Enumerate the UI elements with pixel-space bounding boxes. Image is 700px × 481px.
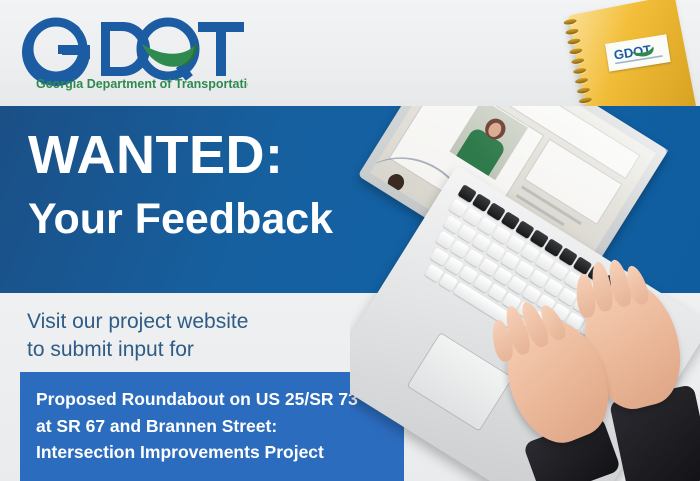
project-line-1: Proposed Roundabout on US 25/SR 73 — [36, 386, 388, 413]
desk-surface — [350, 106, 700, 481]
banner-headline: WANTED: — [28, 128, 283, 182]
gdot-tagline: Georgia Department of Transportation — [36, 77, 248, 91]
banner-subheadline: Your Feedback — [28, 198, 333, 241]
project-line-2: at SR 67 and Brannen Street: — [36, 413, 388, 440]
gdot-logo: Georgia Department of Transportation — [18, 14, 248, 92]
call-to-action-text: Visit our project website to submit inpu… — [27, 308, 357, 364]
cta-line-1: Visit our project website — [27, 308, 357, 336]
gdot-wanted-feedback-poster: Georgia Department of Transportation GDO… — [0, 0, 700, 481]
laptop-photo — [350, 106, 700, 481]
gdot-logo-icon: Georgia Department of Transportation — [18, 14, 248, 92]
project-title-box: Proposed Roundabout on US 25/SR 73 at SR… — [20, 372, 404, 481]
project-line-3: Intersection Improvements Project — [36, 439, 388, 466]
cta-line-2: to submit input for — [27, 336, 357, 364]
